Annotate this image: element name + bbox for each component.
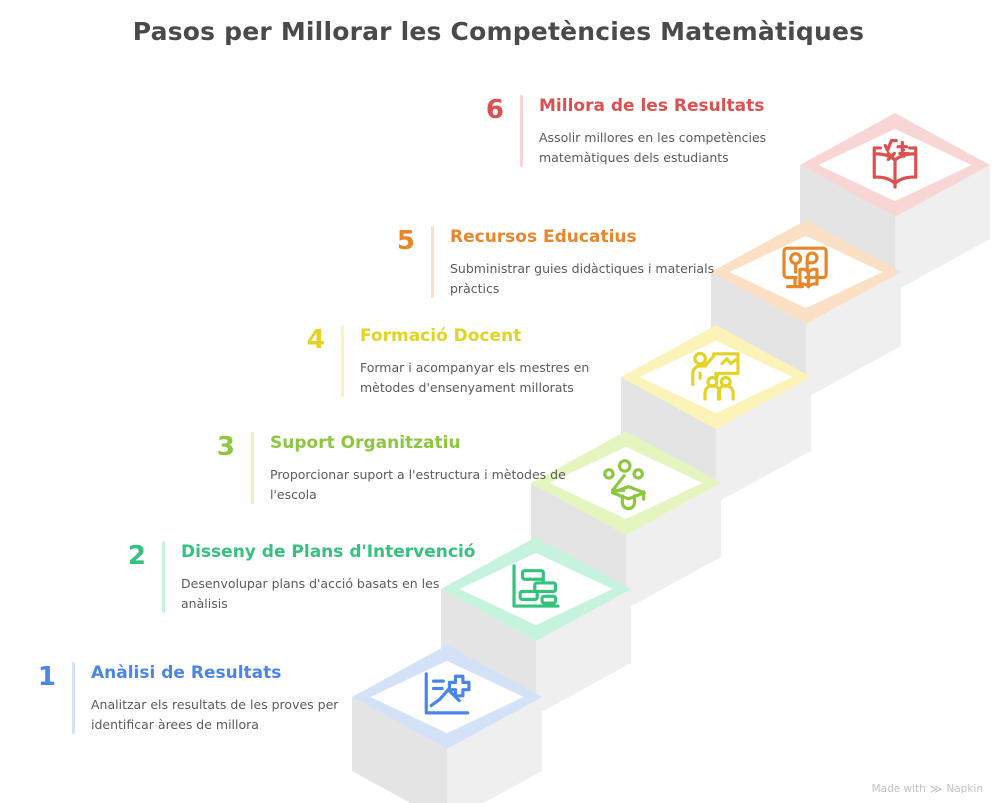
step-description-4: Formar i acompanyar els mestres en mètod…: [360, 358, 641, 397]
step-heading-3: Suport Organitzatiu: [270, 432, 571, 454]
step-divider: [251, 432, 254, 504]
step-number-5: 5: [381, 226, 415, 254]
step-divider: [72, 662, 75, 734]
step-description-3: Proporcionar suport a l'estructura i mèt…: [270, 465, 571, 504]
step-description-2: Desenvolupar plans d'acció basats en les…: [181, 574, 482, 613]
step-number-1: 1: [22, 662, 56, 690]
step-divider: [162, 541, 165, 613]
step-body: Formació DocentFormar i acompanyar els m…: [360, 325, 641, 397]
watermark-text: Made with: [872, 783, 926, 795]
napkin-watermark: Made with ≫ Napkin: [872, 783, 983, 795]
step-divider: [520, 95, 523, 167]
step-item-2: 2Disseny de Plans d'IntervencióDesenvolu…: [112, 541, 482, 613]
step-body: Anàlisi de ResultatsAnalitzar els result…: [91, 662, 392, 734]
step-body: Disseny de Plans d'IntervencióDesenvolup…: [181, 541, 482, 613]
step-item-5: 5Recursos EducatiusSubministrar guies di…: [381, 226, 761, 298]
step-body: Suport OrganitzatiuProporcionar suport a…: [270, 432, 571, 504]
step-divider: [431, 226, 434, 298]
step-heading-5: Recursos Educatius: [450, 226, 761, 248]
step-number-2: 2: [112, 541, 146, 569]
step-item-4: 4Formació DocentFormar i acompanyar els …: [291, 325, 641, 397]
step-item-6: 6Millora de les ResultatsAssolir millore…: [470, 95, 820, 167]
step-heading-1: Anàlisi de Resultats: [91, 662, 392, 684]
step-number-4: 4: [291, 325, 325, 353]
step-body: Millora de les ResultatsAssolir millores…: [539, 95, 820, 167]
step-item-1: 1Anàlisi de ResultatsAnalitzar els resul…: [22, 662, 392, 734]
step-item-3: 3Suport OrganitzatiuProporcionar suport …: [201, 432, 571, 504]
step-number-6: 6: [470, 95, 504, 123]
step-heading-4: Formació Docent: [360, 325, 641, 347]
napkin-logo-icon: ≫: [930, 783, 943, 795]
step-heading-2: Disseny de Plans d'Intervenció: [181, 541, 482, 563]
step-number-3: 3: [201, 432, 235, 460]
step-body: Recursos EducatiusSubministrar guies did…: [450, 226, 761, 298]
step-divider: [341, 325, 344, 397]
step-heading-6: Millora de les Resultats: [539, 95, 820, 117]
step-description-5: Subministrar guies didàctiques i materia…: [450, 259, 761, 298]
watermark-brand: Napkin: [946, 783, 983, 795]
step-description-6: Assolir millores en les competències mat…: [539, 128, 820, 167]
step-description-1: Analitzar els resultats de les proves pe…: [91, 695, 392, 734]
